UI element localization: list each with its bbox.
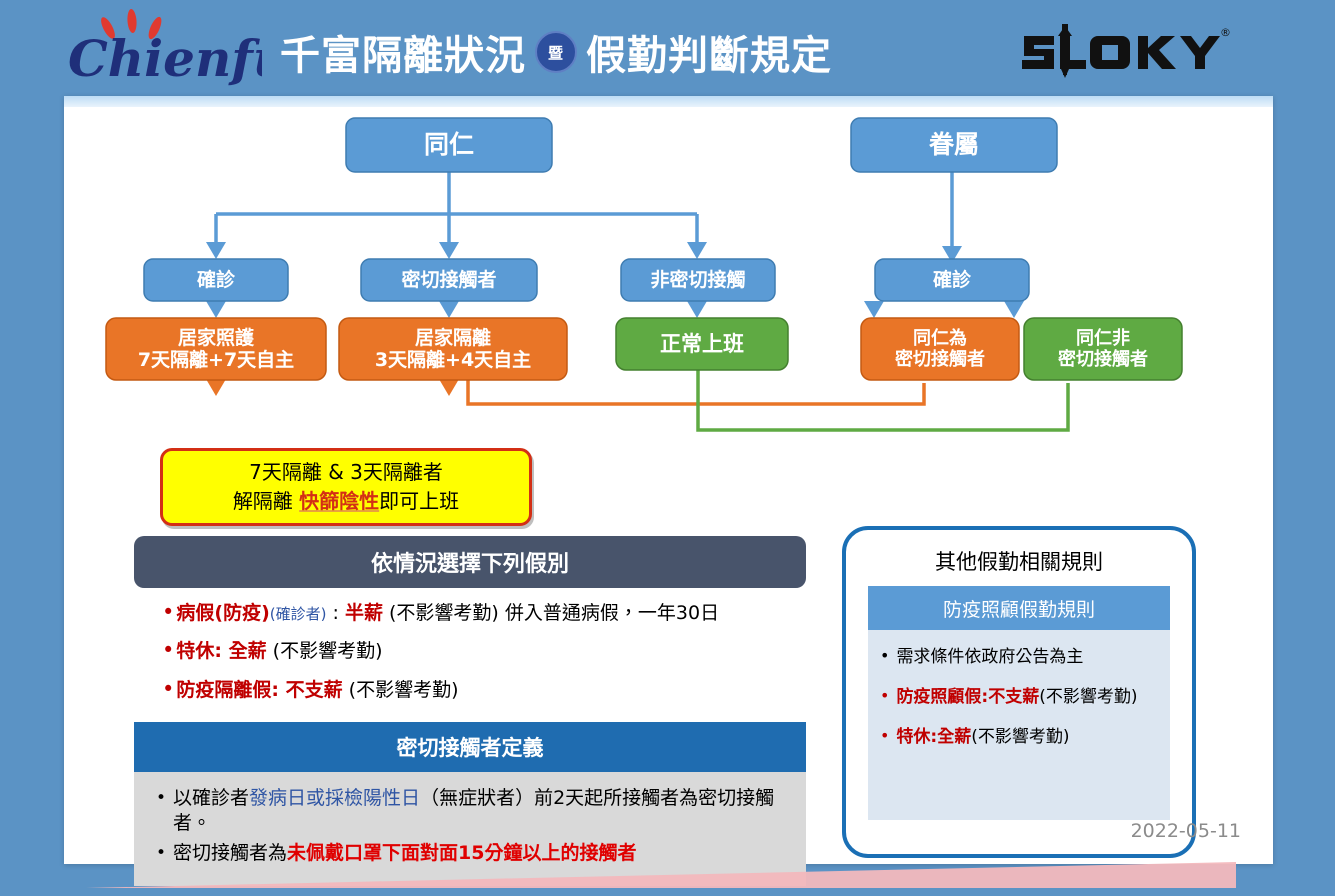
side-rule-black: 需求條件依政府公告為主 [896,647,1083,667]
bullet-icon: • [156,786,166,837]
side-rule-red: 特休:全薪 [896,727,971,747]
bullet-icon: • [880,686,889,708]
definition-pre: 以確診者 [173,787,249,809]
side-rule-row: • 防疫照顧假:不支薪(不影響考勤) [880,686,1164,708]
side-rule-text: 防疫照顧假:不支薪(不影響考勤) [896,686,1137,708]
leave-panel-header: 依情況選擇下列假別 [134,536,806,588]
leave-label: 特休: [176,640,228,662]
side-rule-tail: (不影響考勤) [1039,687,1137,707]
flowchart: .bx-blue { fill:#5b9bd5; stroke:#3e7cb1;… [64,96,1273,456]
date-stamp: 2022-05-11 [1131,820,1241,842]
callout-line-2: 解隔離 快篩陰性即可上班 [233,487,459,516]
page-header: Chienfu 千富隔離狀況 暨 假勤判斷規定 ® [0,0,1335,96]
leave-value: 半薪 [345,602,383,624]
bullet-icon: • [162,600,174,624]
quarantine-release-callout: 7天隔離 & 3天隔離者 解隔離 快篩陰性即可上班 [160,448,532,526]
callout-line-1: 7天隔離 & 3天隔離者 [249,458,443,487]
leave-row: •病假(防疫)(確診者) : 半薪 (不影響考勤) 併入普通病假，一年30日 [162,599,806,626]
side-panel-subheader: 防疫照顧假勤規則 [868,586,1170,630]
side-rule-text: 需求條件依政府公告為主 [896,646,1083,668]
definition-text: 密切接觸者為未佩戴口罩下面對面15分鐘以上的接觸者 [173,841,636,867]
leave-tail: (不影響考勤) [343,679,459,701]
leave-label: 病假(防疫) [176,602,269,624]
definition-row: • 密切接觸者為未佩戴口罩下面對面15分鐘以上的接觸者 [156,841,796,867]
chienfu-logo: Chienfu [62,8,262,92]
content-frame: .bx-blue { fill:#5b9bd5; stroke:#3e7cb1;… [64,96,1273,864]
leave-tail: (不影響考勤) 併入普通病假，一年30日 [383,602,719,624]
bullet-icon: • [162,677,174,701]
side-rule-row: • 需求條件依政府公告為主 [880,646,1164,668]
definition-blue: 發病日或採檢陽性日 [249,787,420,809]
definition-panel-body: • 以確診者發病日或採檢陽性日（無症狀者）前2天起所接觸者為密切接觸者。 • 密… [134,772,806,886]
bullet-icon: • [880,646,889,668]
sloky-logo: ® [1020,22,1235,80]
side-rule-text: 特休:全薪(不影響考勤) [896,726,1069,748]
title-right-text: 假勤判斷規定 [586,23,832,81]
other-leave-rules-panel: 其他假勤相關規則 防疫照顧假勤規則 • 需求條件依政府公告為主 • 防疫照顧假:… [842,526,1196,858]
side-rule-tail: (不影響考勤) [971,727,1069,747]
bullet-icon: • [162,638,174,662]
definition-text: 以確診者發病日或採檢陽性日（無症狀者）前2天起所接觸者為密切接觸者。 [173,786,796,837]
definition-panel-header: 密切接觸者定義 [134,722,806,772]
leave-tail: (不影響考勤) [267,640,383,662]
side-panel-title: 其他假勤相關規則 [846,546,1192,576]
leave-value: 全薪 [229,640,267,662]
callout-line2-pre: 解隔離 [233,489,299,513]
leave-row: •防疫隔離假: 不支薪 (不影響考勤) [162,676,806,703]
title-left-text: 千富隔離狀況 [280,23,526,81]
bullet-icon: • [880,726,889,748]
leave-label: 防疫隔離假: [176,679,285,701]
definition-pre: 密切接觸者為 [173,842,287,864]
callout-highlight: 快篩陰性 [299,489,379,513]
leave-row: •特休: 全薪 (不影響考勤) [162,637,806,664]
close-contact-definition-panel: 密切接觸者定義 • 以確診者發病日或採檢陽性日（無症狀者）前2天起所接觸者為密切… [134,722,806,886]
svg-text:Chienfu: Chienfu [68,29,262,88]
definition-row: • 以確診者發病日或採檢陽性日（無症狀者）前2天起所接觸者為密切接觸者。 [156,786,796,837]
leave-value: 不支薪 [286,679,343,701]
side-rule-row: • 特休:全薪(不影響考勤) [880,726,1164,748]
leave-sep: : [326,602,344,624]
page-title: 千富隔離狀況 暨 假勤判斷規定 [280,26,960,78]
ji-badge-icon: 暨 [535,31,577,73]
leave-selection-panel: 依情況選擇下列假別 •病假(防疫)(確診者) : 半薪 (不影響考勤) 併入普通… [134,536,806,714]
bullet-icon: • [156,841,166,867]
leave-note: (確診者) [270,605,327,623]
callout-line2-post: 即可上班 [379,489,459,513]
svg-text:®: ® [1220,26,1231,39]
side-rule-red: 防疫照顧假:不支薪 [896,687,1039,707]
definition-red: 未佩戴口罩下面對面15分鐘以上的接觸者 [287,842,636,864]
side-panel-body: • 需求條件依政府公告為主 • 防疫照顧假:不支薪(不影響考勤) • 特休:全薪… [868,630,1170,820]
